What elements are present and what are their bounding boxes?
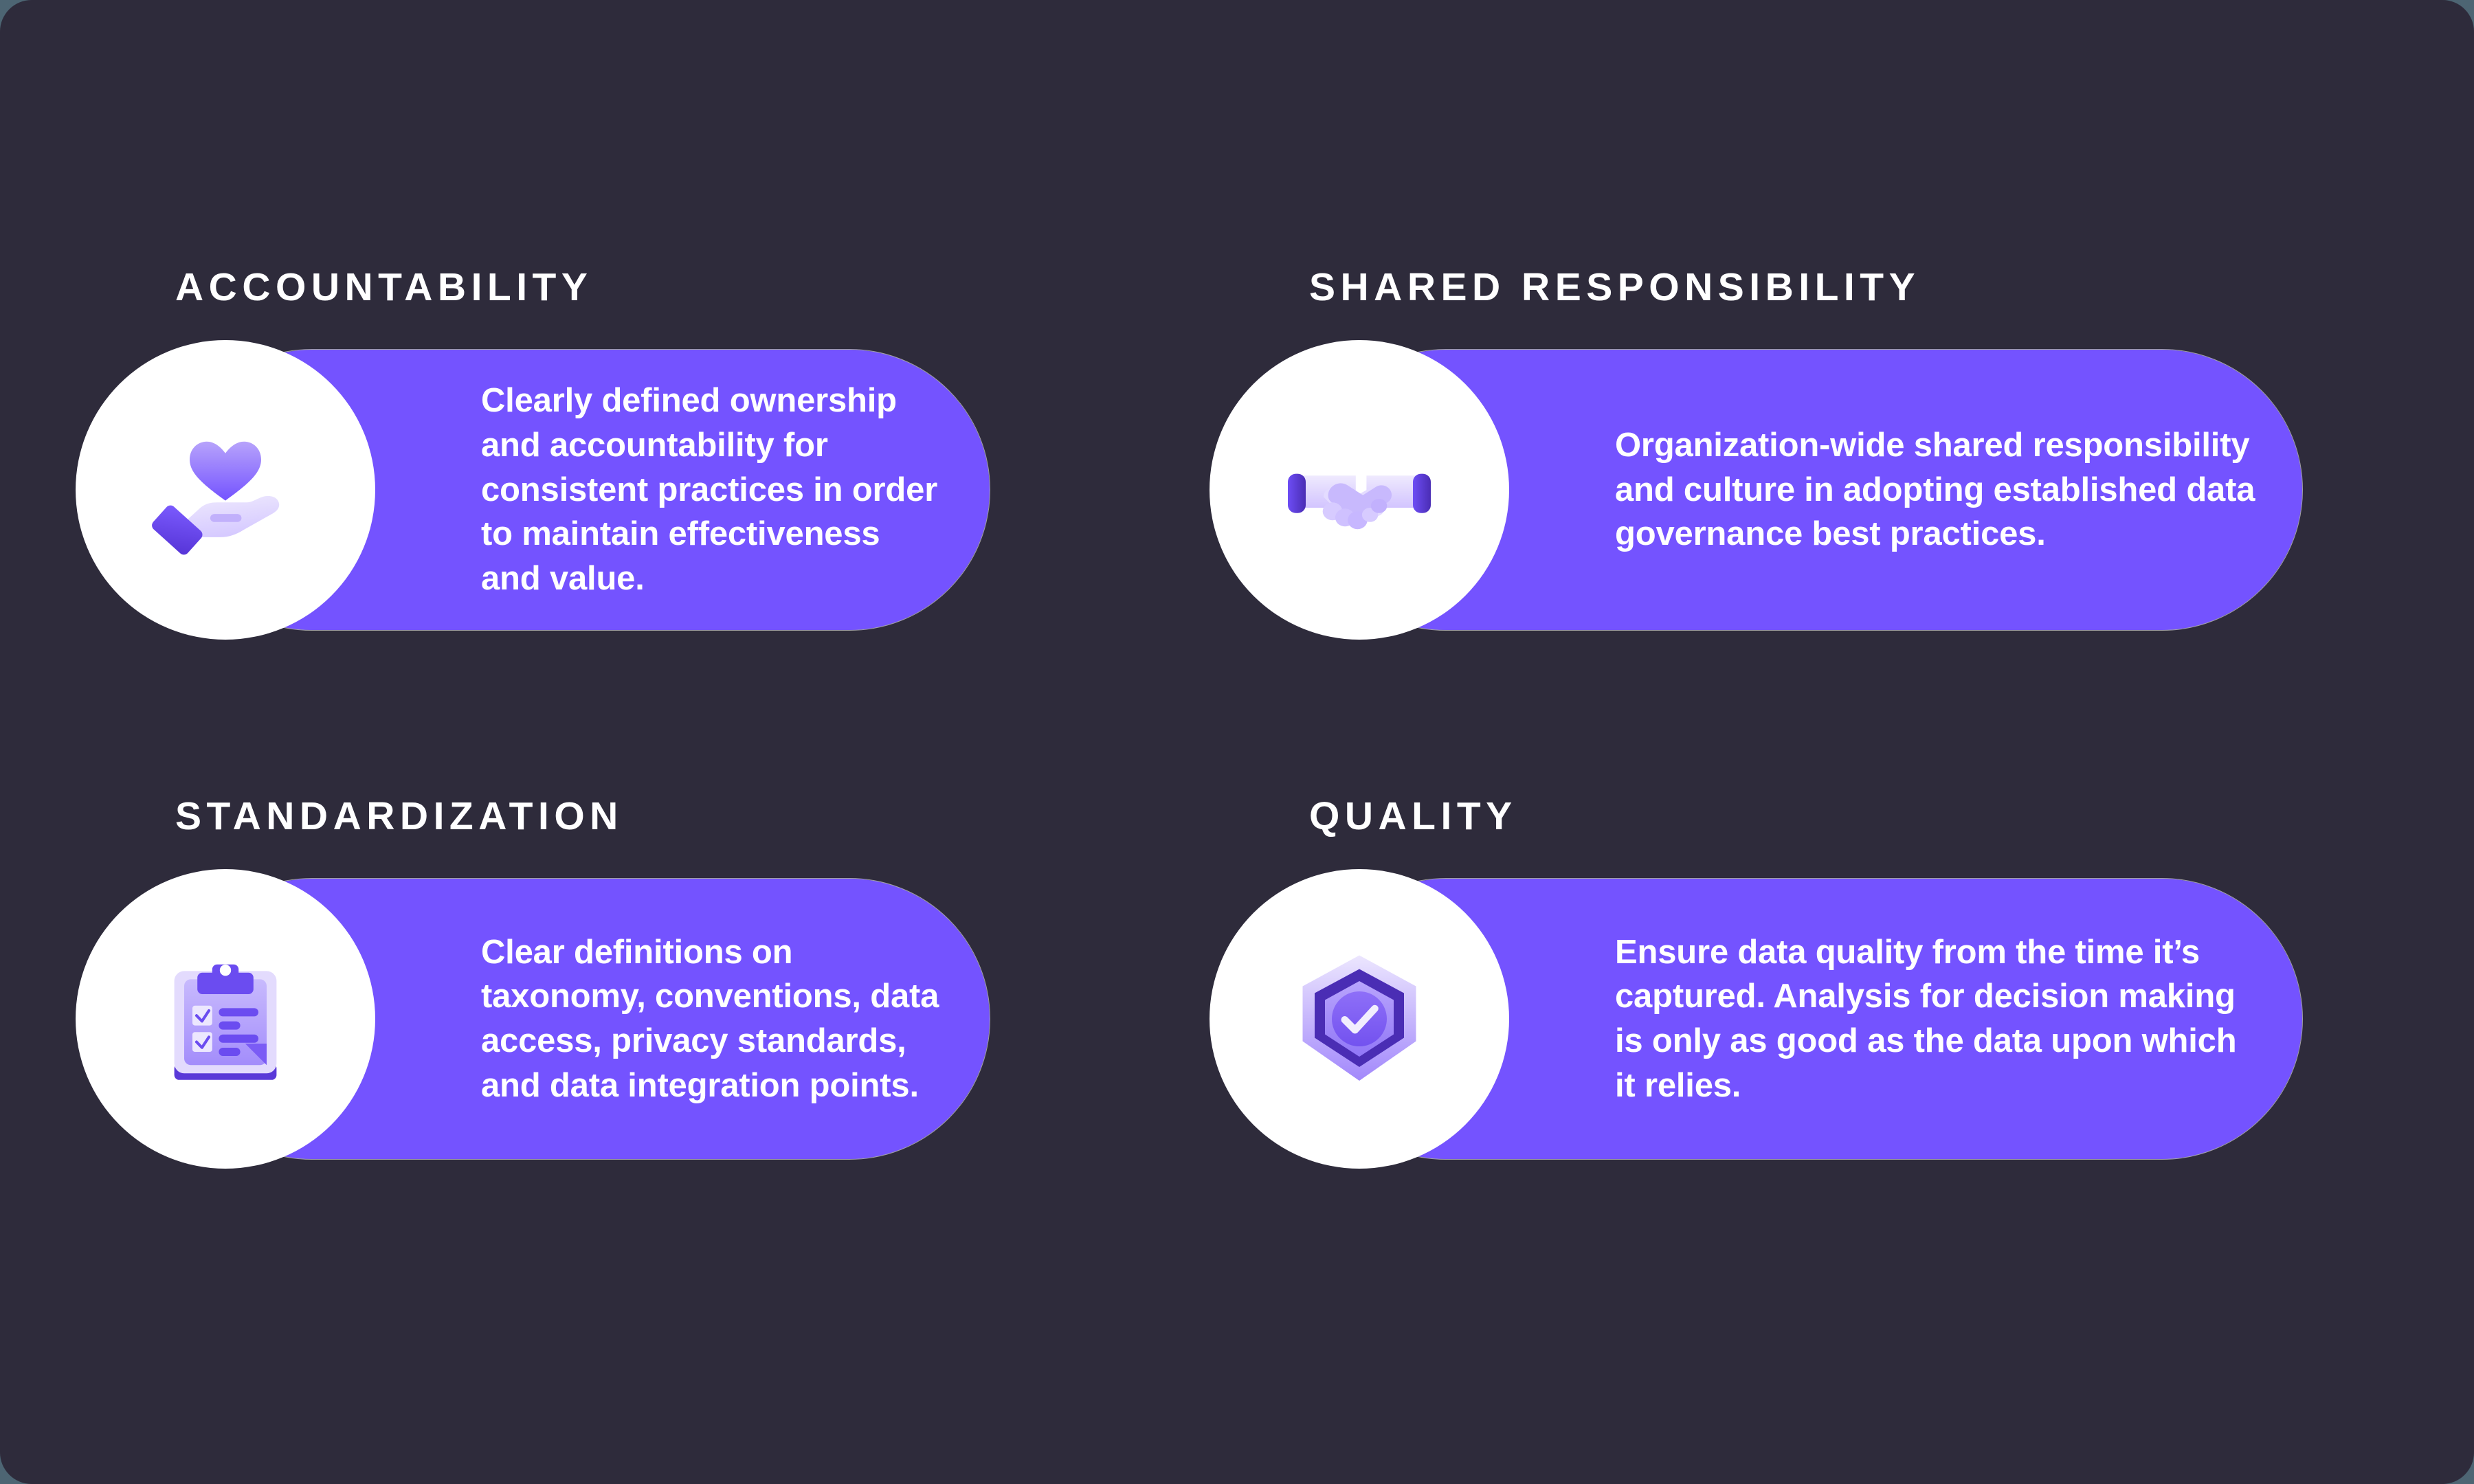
card-body-accountability: Clearly defined ownership and accountabi… [481,379,948,600]
hand-holding-heart-icon [136,401,315,579]
card-heading-standardization: STANDARDIZATION [175,797,1271,836]
principles-grid: ACCOUNTABILITY [0,0,2474,1484]
icon-badge-standardization [76,869,375,1169]
handshake-icon [1270,401,1449,579]
card-quality: QUALITY [1306,797,2405,1159]
card-body-standardization: Clear definitions on taxonomy, conventio… [481,930,948,1108]
card-heading-shared-responsibility: SHARED RESPONSIBILITY [1309,268,2405,307]
icon-badge-accountability [76,340,375,640]
shield-check-icon [1273,933,1445,1105]
card-shared-responsibility: SHARED RESPONSIBILITY [1306,268,2405,630]
card-accountability: ACCOUNTABILITY [172,268,1271,630]
card-pill-quality[interactable]: Ensure data quality from the time it’s c… [1306,879,2302,1159]
card-body-quality: Ensure data quality from the time it’s c… [1615,930,2261,1108]
icon-badge-quality [1210,869,1509,1169]
card-heading-accountability: ACCOUNTABILITY [175,268,1271,307]
card-body-shared-responsibility: Organization-wide shared responsibility … [1615,423,2261,556]
card-pill-standardization[interactable]: Clear definitions on taxonomy, conventio… [172,879,990,1159]
card-heading-quality: QUALITY [1309,797,2405,836]
card-pill-shared-responsibility[interactable]: Organization-wide shared responsibility … [1306,350,2302,630]
icon-badge-shared-responsibility [1210,340,1509,640]
clipboard-checklist-icon [143,936,308,1101]
card-standardization: STANDARDIZATION [172,797,1271,1159]
card-pill-accountability[interactable]: Clearly defined ownership and accountabi… [172,350,990,630]
infographic-page: ACCOUNTABILITY [0,0,2474,1484]
